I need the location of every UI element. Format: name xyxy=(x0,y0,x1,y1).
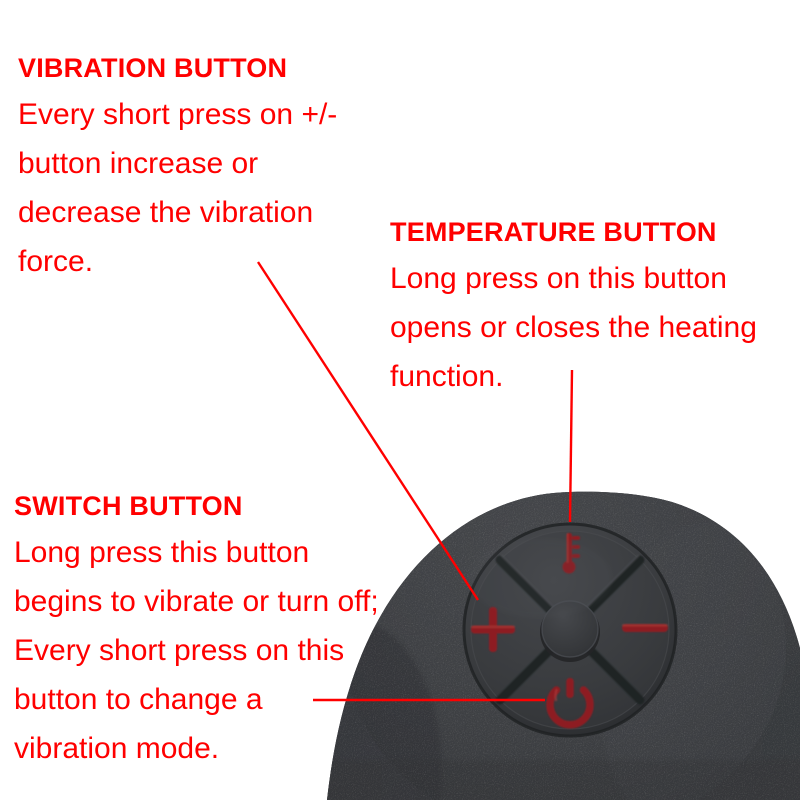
callout-temperature: TEMPERATURE BUTTON Long press on this bu… xyxy=(390,216,757,401)
minus-button[interactable] xyxy=(622,624,668,632)
callout-switch-body: Long press this button begins to vibrate… xyxy=(14,528,379,773)
minus-icon xyxy=(622,624,668,632)
control-pad[interactable] xyxy=(464,524,676,736)
callout-vibration-body: Every short press on +/- button increase… xyxy=(18,90,337,286)
callout-temperature-line-2: opens or closes the heating xyxy=(390,303,757,352)
callout-vibration-line-3: decrease the vibration xyxy=(18,188,337,237)
callout-temperature-title: TEMPERATURE BUTTON xyxy=(390,216,757,248)
callout-vibration: VIBRATION BUTTON Every short press on +/… xyxy=(18,52,337,286)
callout-switch-line-3: Every short press on this xyxy=(14,626,379,675)
callout-temperature-body: Long press on this button opens or close… xyxy=(390,254,757,401)
instruction-diagram: VIBRATION BUTTON Every short press on +/… xyxy=(0,0,800,800)
callout-temperature-line-3: function. xyxy=(390,352,757,401)
callout-switch-line-1: Long press this button xyxy=(14,528,379,577)
callout-vibration-line-4: force. xyxy=(18,237,337,286)
callout-temperature-line-1: Long press on this button xyxy=(390,254,757,303)
callout-switch-title: SWITCH BUTTON xyxy=(14,490,379,522)
callout-vibration-line-1: Every short press on +/- xyxy=(18,90,337,139)
callout-vibration-title: VIBRATION BUTTON xyxy=(18,52,337,84)
callout-switch-line-2: begins to vibrate or turn off; xyxy=(14,577,379,626)
callout-switch-line-5: vibration mode. xyxy=(14,724,379,773)
callout-switch: SWITCH BUTTON Long press this button beg… xyxy=(14,490,379,773)
callout-vibration-line-2: button increase or xyxy=(18,139,337,188)
callout-switch-line-4: button to change a xyxy=(14,675,379,724)
